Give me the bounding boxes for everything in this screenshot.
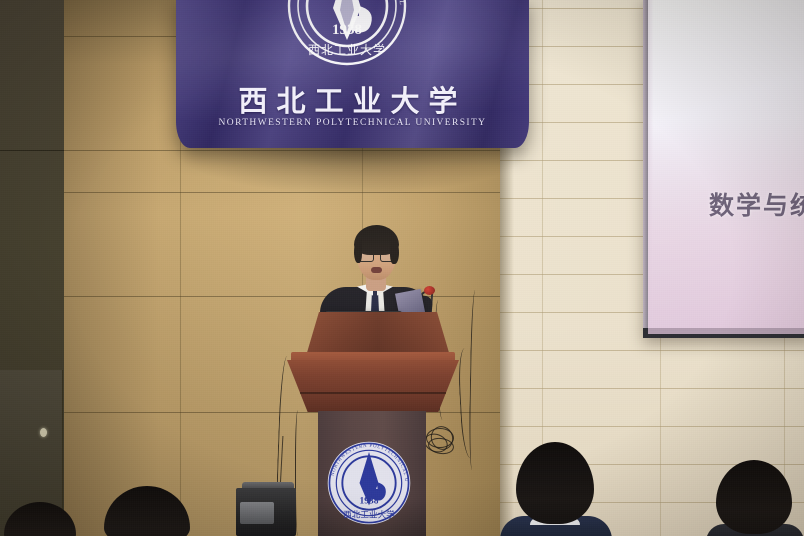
audience-head [716,460,792,534]
audience-member-far-left [0,496,80,536]
university-banner: 1938 西北工业大学 NORTHWESTERN POLYTECHNICAL U… [176,0,529,148]
audience-head [4,502,76,536]
audience-member-front-center [500,436,612,536]
svg-text:西北工业大学: 西北工业大学 [343,508,395,519]
presenter-hair-side-right [390,239,399,264]
banner-chinese-name: 西北工业大学 [176,78,529,120]
audience-member-front-right [706,450,804,536]
lectern-shelf [287,360,459,412]
svg-text:1938: 1938 [332,22,362,38]
slide-title-line-1: 数学与统计 [648,186,804,222]
audience-member-bottom-left [92,482,202,536]
presenter-mouth [371,267,382,273]
presenter-hair-side-left [354,239,362,263]
banner-english-name: NORTHWESTERN POLYTECHNICAL UNIVERSITY [176,118,529,128]
coiled-cable-bundle [424,424,458,460]
slide-title-line-2: 暨第 [648,226,804,262]
av-rack-front-panel [240,502,274,524]
audience-head [104,486,190,536]
lectern-university-emblem-icon: 1938 西北工业大学 NORTHWESTERN POLYTECHNICAL U… [326,440,412,526]
screen-edge-gradient [643,0,653,328]
projection-screen [648,0,804,328]
university-emblem-icon: 1938 西北工业大学 NORTHWESTERN POLYTECHNICAL U… [285,0,409,68]
svg-text:西北工业大学: 西北工业大学 [308,42,386,57]
hanging-cable [295,410,302,536]
door-knob-icon[interactable] [40,428,47,437]
audience-head [516,442,594,524]
lectern-shelf-edge [300,392,446,394]
conference-photo: 数学与统计 暨第 1938 西北工业大学 NORTHWESTERN POLYTE… [0,0,804,536]
svg-text:1938: 1938 [360,497,379,507]
